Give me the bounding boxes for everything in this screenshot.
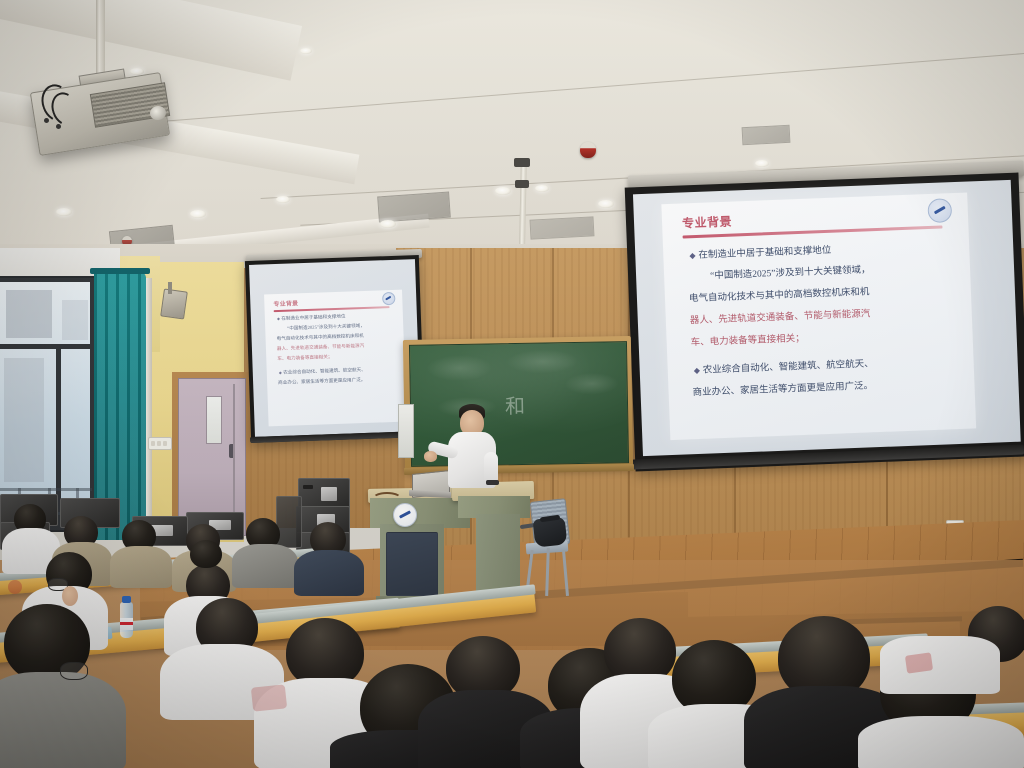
air-vent (377, 192, 451, 223)
curtain-rail (90, 268, 150, 274)
university-emblem (382, 292, 395, 305)
side-whiteboard (398, 404, 414, 458)
student-body (294, 550, 364, 596)
bottle-label-stripe (120, 622, 133, 625)
university-emblem (927, 198, 952, 223)
emblem-glyph (385, 296, 391, 301)
projector-indicator (56, 124, 61, 129)
student-hand (62, 586, 78, 606)
university-emblem (393, 503, 417, 527)
ceiling-downlight (276, 196, 290, 203)
lecture-hall-photo: 专业背景 在制造业中居于基础和支撑地位 “中国制造2025”涉及到十大关键领域，… (0, 0, 1024, 768)
case-panel (321, 487, 337, 501)
smoke-detector (580, 142, 596, 158)
control-podium-panel[interactable] (386, 532, 438, 596)
slide-line: 农业综合自动化、智能建筑、航空航天、 (279, 366, 401, 376)
slide-line: 器人、先进轨道交通装备、节能与新能源汽 (690, 302, 960, 326)
student-body (110, 546, 172, 588)
slide-line: 车、电力装备等直接相关； (690, 324, 960, 348)
desk-cable (372, 492, 402, 506)
chalk-smudge (564, 372, 618, 395)
water-bottle-cap[interactable] (122, 596, 131, 603)
slide-bullet-line: 农业综合自动化、智能建筑、航空航天、 (693, 352, 961, 376)
lecturer-hand (424, 451, 437, 462)
student-shirt-graphic (880, 636, 1000, 694)
chalk-smudge (426, 354, 492, 381)
slide-line: 车、电力装备等直接相关； (277, 352, 400, 362)
student-body (858, 716, 1024, 768)
microphone-boom-joint (514, 158, 530, 167)
light-switch[interactable] (157, 441, 161, 446)
air-vent (742, 125, 791, 145)
slide-line: “中国制造2025”涉及到十大关键领域， (287, 322, 399, 332)
building-outside (4, 358, 44, 482)
building-outside (62, 300, 88, 340)
door-mullion (233, 384, 235, 530)
eyeglasses (60, 662, 88, 680)
chalk-smudge (506, 349, 578, 374)
shirt-print (8, 580, 22, 594)
slide-line: 电气自动化技术与其中的高档数控机床和机 (689, 280, 959, 304)
building-outside (6, 290, 52, 338)
emblem-glyph (399, 510, 411, 518)
ceiling-downlight (300, 48, 312, 54)
chalkboard-character: 和 (505, 390, 526, 419)
slide-line: 电气自动化技术与其中的高档数控机床和机 (277, 332, 400, 342)
slide-body: 在制造业中居于基础和支撑地位 “中国制造2025”涉及到十大关键领域， 电气自动… (681, 237, 963, 398)
ceiling-downlight (535, 185, 549, 192)
student-head (190, 540, 222, 568)
slide-line: 器人、先进轨道交通装备、节能与新能源汽 (277, 342, 400, 352)
air-vent (530, 216, 595, 239)
slide-main: 专业背景 在制造业中居于基础和支撑地位 “中国制造2025”涉及到十大关键领域，… (661, 193, 976, 441)
door-window (206, 396, 222, 444)
emblem-glyph (934, 206, 946, 215)
shirt-print (905, 652, 933, 673)
wall-speaker (160, 288, 188, 319)
water-bottle[interactable] (120, 602, 133, 638)
backpack[interactable] (533, 516, 568, 547)
projector-indicator (44, 118, 49, 123)
slide-title: 专业背景 (682, 213, 733, 232)
light-switch-panel[interactable] (148, 437, 172, 450)
slide-left-title: 专业背景 (273, 298, 298, 308)
student-body (232, 544, 298, 588)
ceiling-downlight (495, 187, 511, 195)
ceiling-downlight (190, 210, 206, 218)
slide-left: 专业背景 在制造业中居于基础和支撑地位 “中国制造2025”涉及到十大关键领域，… (264, 290, 407, 427)
slide-left-body: 在制造业中居于基础和支撑地位 “中国制造2025”涉及到十大关键领域， 电气自动… (273, 312, 401, 386)
slide-line: 在制造业中居于基础和支撑地位 (277, 312, 399, 322)
wall-speaker-bracket (168, 282, 172, 294)
ceiling-downlight (380, 220, 396, 228)
ceiling-downlight (598, 200, 614, 208)
shirt-print (251, 684, 287, 711)
projection-screen-main: 专业背景 在制造业中居于基础和支撑地位 “中国制造2025”涉及到十大关键领域，… (625, 173, 1024, 472)
slide-line: 商业办公、家居生活等方面更是应用广泛。 (278, 376, 401, 386)
ceiling-downlight (755, 160, 769, 167)
light-switch[interactable] (151, 441, 155, 446)
student-body (0, 672, 126, 768)
ceiling-downlight (56, 208, 72, 216)
bottle-label (120, 618, 133, 630)
slide-line: “中国制造2025”涉及到十大关键领域， (710, 258, 958, 282)
slide-line: 商业办公、家居生活等方面更是应用广泛。 (692, 374, 962, 398)
slide-bullet-line: 在制造业中居于基础和支撑地位 (689, 237, 957, 261)
window-mullion (0, 344, 92, 349)
lecturer-watch (486, 480, 499, 485)
light-switch[interactable] (163, 441, 167, 446)
case-latch (303, 485, 313, 489)
equipment-case-far (276, 496, 302, 548)
microphone-boom-joint (515, 180, 529, 188)
